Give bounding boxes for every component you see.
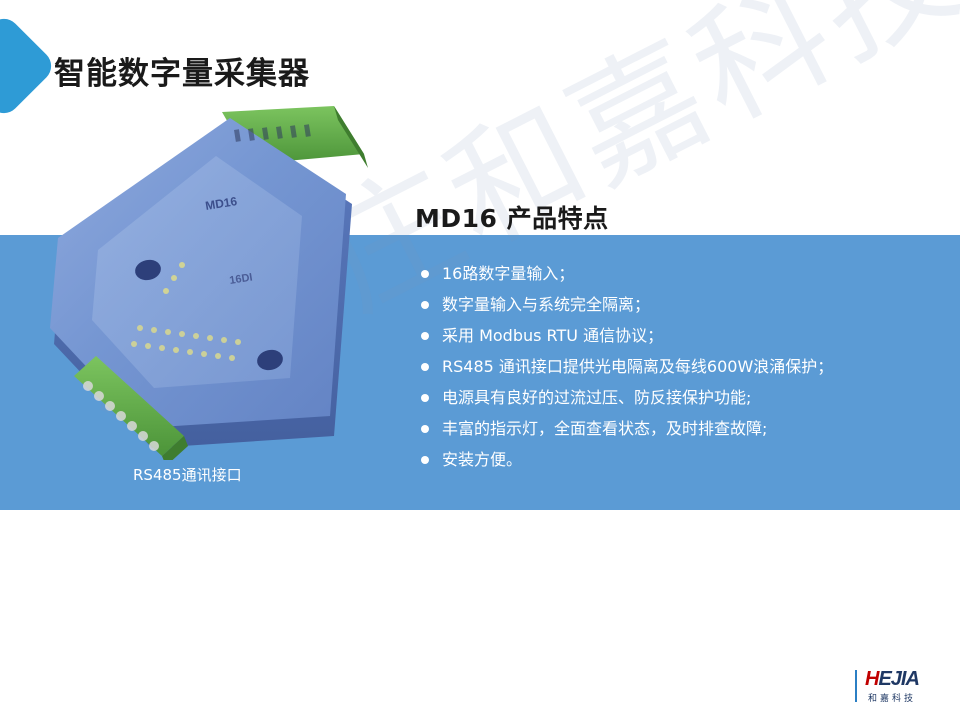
logo-accent-bar <box>855 670 857 702</box>
bullet-icon <box>421 270 429 278</box>
list-item-label: RS485 通讯接口提供光电隔离及每线600W浪涌保护； <box>442 357 833 376</box>
page-title: 智能数字量采集器 <box>54 48 310 93</box>
product-photo: MD16 16DI <box>34 98 400 460</box>
section-heading: MD16 产品特点 <box>415 199 609 235</box>
list-item-label: 16路数字量输入； <box>442 264 574 283</box>
list-item: 数字量输入与系统完全隔离； <box>415 289 935 320</box>
list-item: 丰富的指示灯，全面查看状态，及时排查故障; <box>415 413 935 444</box>
list-item-label: 电源具有良好的过流过压、防反接保护功能; <box>442 388 751 407</box>
bullet-icon <box>421 425 429 433</box>
bullet-icon <box>421 363 429 371</box>
bullet-icon <box>421 332 429 340</box>
logo-wordmark: HEJIA <box>865 668 919 691</box>
list-item: 采用 Modbus RTU 通信协议； <box>415 320 935 351</box>
bullet-icon <box>421 456 429 464</box>
feature-list: 16路数字量输入； 数字量输入与系统完全隔离； 采用 Modbus RTU 通信… <box>415 258 935 475</box>
product-caption: RS485通讯接口 <box>133 464 242 485</box>
logo-wordmark-rest: EJIA <box>878 668 918 690</box>
logo-wordmark-initial: H <box>865 668 878 690</box>
company-logo: HEJIA 和嘉科技 <box>855 668 950 706</box>
list-item: 电源具有良好的过流过压、防反接保护功能; <box>415 382 935 413</box>
list-item-label: 采用 Modbus RTU 通信协议； <box>442 326 663 345</box>
slide-canvas: 石家庄和嘉科技有限公司 智能数字量采集器 <box>0 0 960 720</box>
list-item-label: 丰富的指示灯，全面查看状态，及时排查故障; <box>442 419 767 438</box>
list-item-label: 数字量输入与系统完全隔离； <box>442 295 650 314</box>
bullet-icon <box>421 301 429 309</box>
list-item: 16路数字量输入； <box>415 258 935 289</box>
logo-subtitle: 和嘉科技 <box>868 691 916 704</box>
list-item: RS485 通讯接口提供光电隔离及每线600W浪涌保护； <box>415 351 935 382</box>
bullet-icon <box>421 394 429 402</box>
list-item: 安装方便。 <box>415 444 935 475</box>
list-item-label: 安装方便。 <box>442 450 522 469</box>
